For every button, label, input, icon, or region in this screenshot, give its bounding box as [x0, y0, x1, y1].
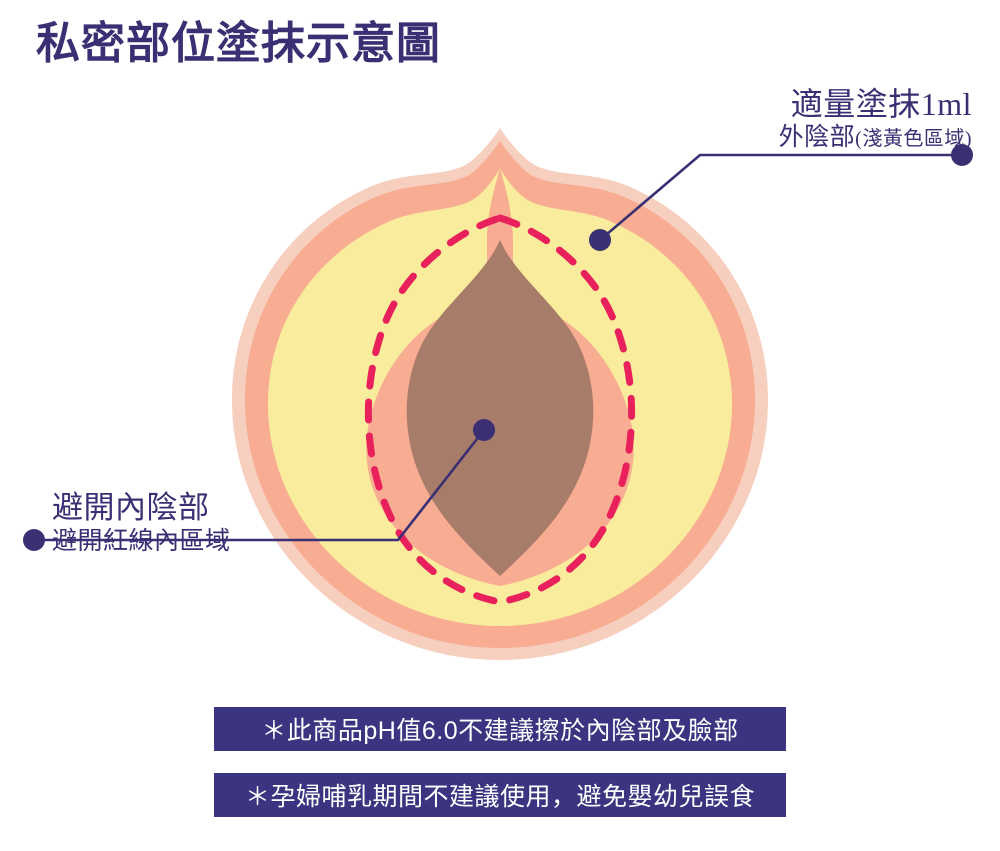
diagram-shapes: [23, 128, 973, 660]
outer-callout-line-top: 適量塗抹1ml: [779, 86, 972, 122]
inner-avoid-callout: 避開內陰部 避開紅線內區域: [52, 490, 231, 558]
note-ph-value: ＊此商品pH值6.0不建議擦於內陰部及臉部: [214, 707, 786, 751]
illustration-page: 私密部位塗抹示意圖: [0, 0, 1000, 851]
outer-callout-line-bottom: 外陰部(淺黃色區域): [779, 122, 972, 155]
note-pregnancy: ＊孕婦哺乳期間不建議使用，避免嬰幼兒誤食: [214, 773, 786, 817]
inner-callout-line-top: 避開內陰部: [52, 490, 231, 526]
outer-vulva-callout: 適量塗抹1ml 外陰部(淺黃色區域): [779, 86, 972, 155]
inner-callout-line-bottom: 避開紅線內區域: [52, 526, 231, 558]
outer-callout-line-bottom-paren: (淺黃色區域): [855, 128, 972, 150]
outer-callout-line-bottom-main: 外陰部: [779, 124, 856, 151]
outer-callout-dot: [589, 229, 611, 251]
inner-callout-dot: [473, 419, 495, 441]
inner-callout-end-dot: [23, 529, 45, 551]
